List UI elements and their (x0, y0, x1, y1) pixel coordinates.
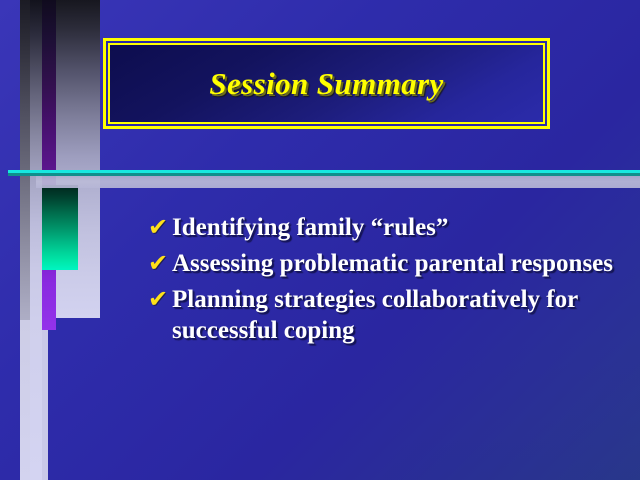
list-item: ✔ Assessing problematic parental respons… (148, 248, 628, 279)
list-item: ✔ Planning strategies collaboratively fo… (148, 284, 628, 346)
check-icon: ✔ (148, 248, 172, 279)
decoration-bar-purple (42, 0, 56, 330)
check-icon: ✔ (148, 284, 172, 315)
decoration-accent-block-green (42, 185, 78, 270)
bullet-list: ✔ Identifying family “rules” ✔ Assessing… (148, 212, 628, 351)
presentation-slide: Session Summary ✔ Identifying family “ru… (0, 0, 640, 480)
decoration-bar-lavender (30, 0, 42, 320)
decoration-bar-periwinkle (56, 0, 100, 318)
title-box-inner: Session Summary (108, 43, 545, 124)
slide-title: Session Summary (209, 66, 443, 102)
decoration-bar-pale-stripe (42, 330, 48, 480)
list-item-label: Identifying family “rules” (172, 212, 628, 243)
divider-line-teal (8, 173, 640, 176)
decoration-bar-lavender-lower (30, 320, 42, 480)
check-icon: ✔ (148, 212, 172, 243)
title-box: Session Summary (103, 38, 550, 129)
list-item-label: Assessing problematic parental responses (172, 248, 628, 279)
divider-shadow (36, 176, 640, 188)
decoration-bar-slate-lower (20, 320, 30, 480)
list-item-label: Planning strategies collaboratively for … (172, 284, 628, 346)
list-item: ✔ Identifying family “rules” (148, 212, 628, 243)
